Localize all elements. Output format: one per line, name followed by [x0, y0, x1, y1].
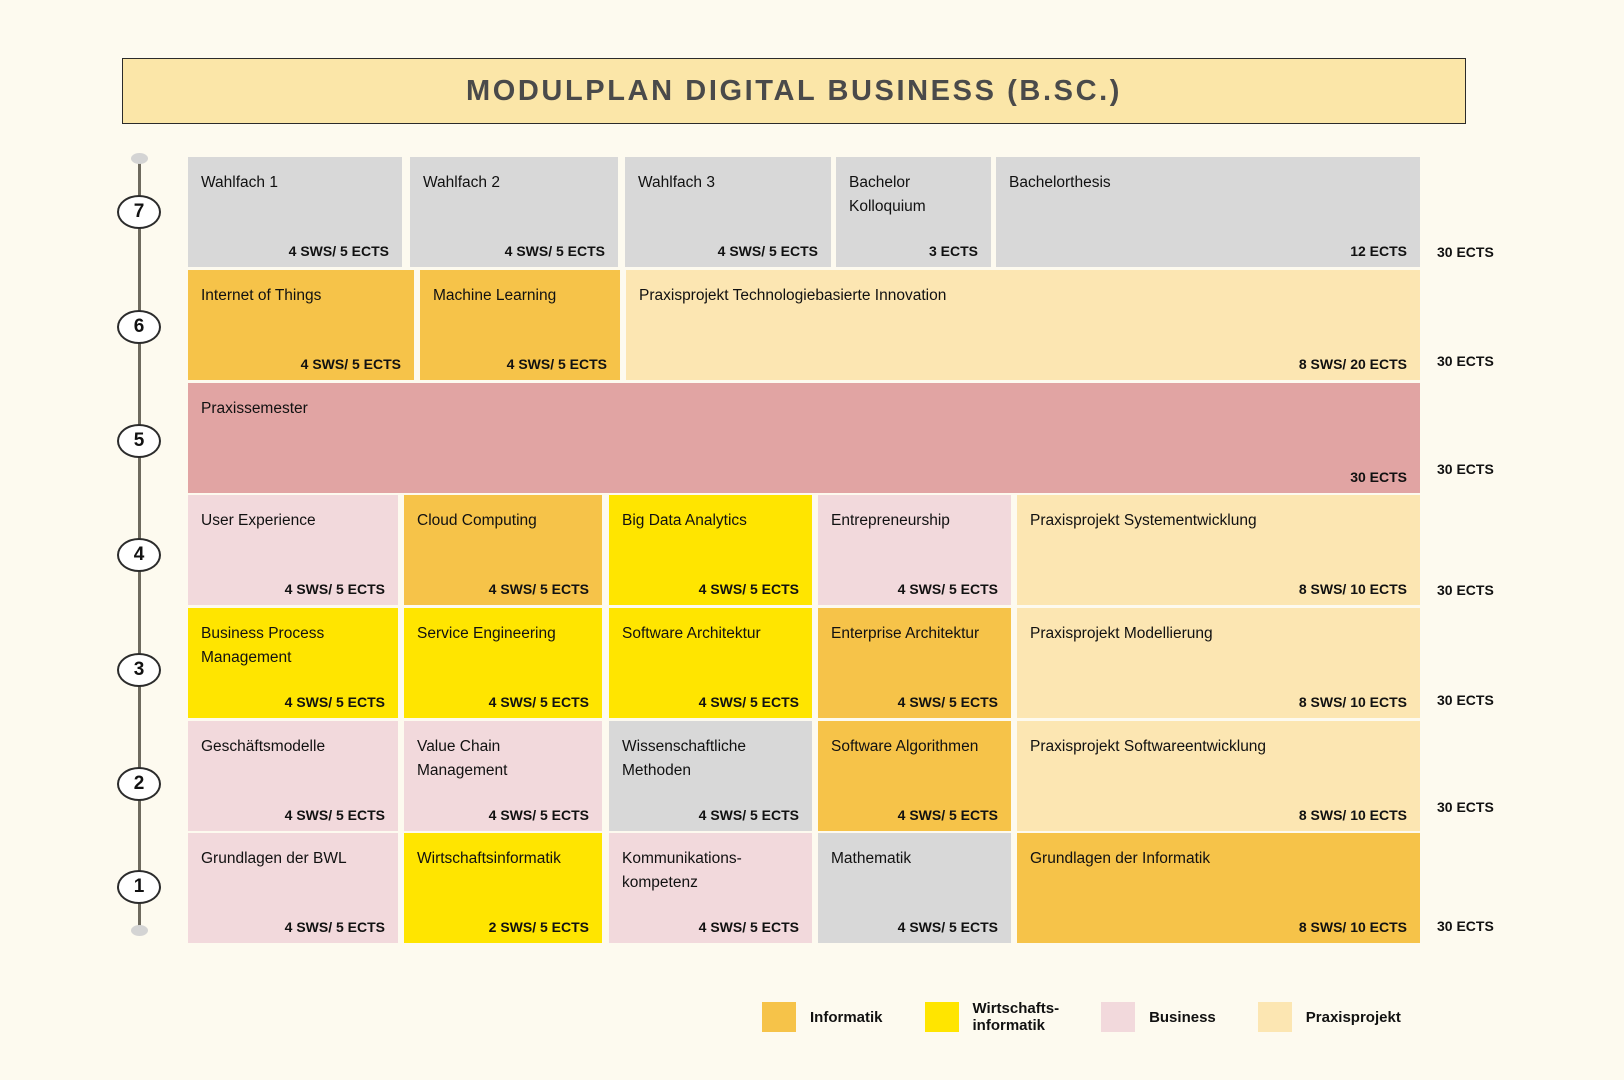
legend-item[interactable]: Business	[1101, 1002, 1216, 1032]
module-box[interactable]: Praxisprojekt Softwareentwicklung8 SWS/ …	[1017, 721, 1420, 831]
module-credits: 4 SWS/ 5 ECTS	[285, 919, 385, 935]
semester-row-4: User Experience4 SWS/ 5 ECTSCloud Comput…	[188, 495, 1420, 605]
legend-color-swatch	[1258, 1002, 1292, 1032]
module-box[interactable]: Geschäftsmodelle4 SWS/ 5 ECTS	[188, 721, 398, 831]
module-box[interactable]: Wahlfach 14 SWS/ 5 ECTS	[188, 157, 402, 267]
module-credits: 4 SWS/ 5 ECTS	[718, 243, 818, 259]
semester-badge-5[interactable]: 5	[117, 424, 161, 458]
module-box[interactable]: Bachelorthesis12 ECTS	[996, 157, 1420, 267]
semester-total-ects: 30 ECTS	[1437, 353, 1494, 369]
module-title: Cloud Computing	[417, 509, 589, 533]
module-title: Software Algorithmen	[831, 735, 998, 759]
module-credits: 4 SWS/ 5 ECTS	[699, 807, 799, 823]
page-title-banner: MODULPLAN DIGITAL BUSINESS (B.SC.)	[122, 58, 1466, 124]
module-credits: 2 SWS/ 5 ECTS	[489, 919, 589, 935]
module-box[interactable]: Service Engineering4 SWS/ 5 ECTS	[404, 608, 602, 718]
module-credits: 4 SWS/ 5 ECTS	[285, 807, 385, 823]
semester-row-inner: Geschäftsmodelle4 SWS/ 5 ECTSValue Chain…	[188, 721, 1420, 831]
module-box[interactable]: Bachelor Kolloquium3 ECTS	[836, 157, 991, 267]
module-title: Business Process Management	[201, 622, 385, 670]
module-credits: 4 SWS/ 5 ECTS	[898, 694, 998, 710]
module-box[interactable]: Software Architektur4 SWS/ 5 ECTS	[609, 608, 812, 718]
module-title: Wahlfach 3	[638, 171, 818, 195]
module-title: Bachelor Kolloquium	[849, 171, 978, 219]
timeline-cap-top-icon	[131, 153, 148, 164]
module-credits: 4 SWS/ 5 ECTS	[489, 694, 589, 710]
module-credits: 4 SWS/ 5 ECTS	[898, 919, 998, 935]
semester-row-inner: Grundlagen der BWL4 SWS/ 5 ECTSWirtschaf…	[188, 833, 1420, 943]
semester-badge-4[interactable]: 4	[117, 538, 161, 572]
legend-label: Praxisprojekt	[1306, 1009, 1401, 1026]
module-box[interactable]: Wirtschaftsinformatik2 SWS/ 5 ECTS	[404, 833, 602, 943]
module-title: Enterprise Architektur	[831, 622, 998, 646]
module-title: Grundlagen der BWL	[201, 847, 385, 871]
module-credits: 12 ECTS	[1350, 243, 1407, 259]
module-box[interactable]: Cloud Computing4 SWS/ 5 ECTS	[404, 495, 602, 605]
module-box[interactable]: Big Data Analytics4 SWS/ 5 ECTS	[609, 495, 812, 605]
legend-item[interactable]: Informatik	[762, 1002, 883, 1032]
semester-row-inner: User Experience4 SWS/ 5 ECTSCloud Comput…	[188, 495, 1420, 605]
legend-item[interactable]: Wirtschafts- informatik	[925, 1000, 1060, 1035]
semester-row-inner: Praxissemester30 ECTS	[188, 383, 1420, 493]
module-box[interactable]: Value Chain Management4 SWS/ 5 ECTS	[404, 721, 602, 831]
module-credits: 4 SWS/ 5 ECTS	[289, 243, 389, 259]
module-credits: 4 SWS/ 5 ECTS	[489, 581, 589, 597]
semester-total-ects: 30 ECTS	[1437, 582, 1494, 598]
legend-label: Business	[1149, 1009, 1216, 1026]
module-title: User Experience	[201, 509, 385, 533]
module-box[interactable]: Business Process Management4 SWS/ 5 ECTS	[188, 608, 398, 718]
module-title: Wissenschaftliche Methoden	[622, 735, 799, 783]
module-title: Service Engineering	[417, 622, 589, 646]
legend-label: Informatik	[810, 1009, 883, 1026]
page-title: MODULPLAN DIGITAL BUSINESS (B.SC.)	[466, 75, 1122, 108]
module-title: Big Data Analytics	[622, 509, 799, 533]
semester-row-7: Wahlfach 14 SWS/ 5 ECTSWahlfach 24 SWS/ …	[188, 157, 1420, 267]
module-credits: 4 SWS/ 5 ECTS	[301, 356, 401, 372]
module-box[interactable]: User Experience4 SWS/ 5 ECTS	[188, 495, 398, 605]
semester-badge-6[interactable]: 6	[117, 310, 161, 344]
module-credits: 3 ECTS	[929, 243, 978, 259]
module-credits: 4 SWS/ 5 ECTS	[898, 581, 998, 597]
module-box[interactable]: Wahlfach 34 SWS/ 5 ECTS	[625, 157, 831, 267]
module-credits: 8 SWS/ 10 ECTS	[1299, 919, 1407, 935]
module-box[interactable]: Grundlagen der BWL4 SWS/ 5 ECTS	[188, 833, 398, 943]
category-legend: InformatikWirtschafts- informatikBusines…	[762, 1000, 1443, 1035]
module-box[interactable]: Software Algorithmen4 SWS/ 5 ECTS	[818, 721, 1011, 831]
module-title: Geschäftsmodelle	[201, 735, 385, 759]
semester-row-5: Praxissemester30 ECTS	[188, 383, 1420, 493]
module-title: Internet of Things	[201, 284, 401, 308]
module-title: Praxisprojekt Technologiebasierte Innova…	[639, 284, 1407, 308]
semester-row-6: Internet of Things4 SWS/ 5 ECTSMachine L…	[188, 270, 1420, 380]
module-box[interactable]: Wahlfach 24 SWS/ 5 ECTS	[410, 157, 618, 267]
module-box[interactable]: Internet of Things4 SWS/ 5 ECTS	[188, 270, 414, 380]
module-credits: 4 SWS/ 5 ECTS	[898, 807, 998, 823]
module-credits: 8 SWS/ 10 ECTS	[1299, 694, 1407, 710]
module-box[interactable]: Praxisprojekt Systementwicklung8 SWS/ 10…	[1017, 495, 1420, 605]
legend-label: Wirtschafts- informatik	[973, 1000, 1060, 1035]
module-credits: 4 SWS/ 5 ECTS	[699, 919, 799, 935]
module-title: Mathematik	[831, 847, 998, 871]
legend-color-swatch	[1101, 1002, 1135, 1032]
semester-badge-3[interactable]: 3	[117, 653, 161, 687]
timeline-cap-bottom-icon	[131, 925, 148, 936]
module-credits: 30 ECTS	[1350, 469, 1407, 485]
semester-row-inner: Internet of Things4 SWS/ 5 ECTSMachine L…	[188, 270, 1420, 380]
module-box[interactable]: Praxisprojekt Technologiebasierte Innova…	[626, 270, 1420, 380]
module-credits: 4 SWS/ 5 ECTS	[285, 581, 385, 597]
module-credits: 8 SWS/ 10 ECTS	[1299, 807, 1407, 823]
module-box[interactable]: Grundlagen der Informatik8 SWS/ 10 ECTS	[1017, 833, 1420, 943]
module-credits: 4 SWS/ 5 ECTS	[489, 807, 589, 823]
semester-total-ects: 30 ECTS	[1437, 461, 1494, 477]
semester-row-inner: Business Process Management4 SWS/ 5 ECTS…	[188, 608, 1420, 718]
module-title: Machine Learning	[433, 284, 607, 308]
module-title: Wirtschaftsinformatik	[417, 847, 589, 871]
module-title: Kommunikations- kompetenz	[622, 847, 799, 895]
module-title: Wahlfach 1	[201, 171, 389, 195]
semester-total-ects: 30 ECTS	[1437, 799, 1494, 815]
module-box[interactable]: Entrepreneurship4 SWS/ 5 ECTS	[818, 495, 1011, 605]
semester-row-2: Geschäftsmodelle4 SWS/ 5 ECTSValue Chain…	[188, 721, 1420, 831]
semester-row-3: Business Process Management4 SWS/ 5 ECTS…	[188, 608, 1420, 718]
modulplan-page: MODULPLAN DIGITAL BUSINESS (B.SC.) 7Wahl…	[0, 0, 1624, 1080]
semester-total-ects: 30 ECTS	[1437, 918, 1494, 934]
module-credits: 4 SWS/ 5 ECTS	[699, 581, 799, 597]
module-credits: 8 SWS/ 20 ECTS	[1299, 356, 1407, 372]
legend-item[interactable]: Praxisprojekt	[1258, 1002, 1401, 1032]
legend-color-swatch	[762, 1002, 796, 1032]
module-title: Software Architektur	[622, 622, 799, 646]
semester-total-ects: 30 ECTS	[1437, 692, 1494, 708]
module-title: Praxisprojekt Modellierung	[1030, 622, 1407, 646]
module-credits: 4 SWS/ 5 ECTS	[285, 694, 385, 710]
module-title: Praxisprojekt Systementwicklung	[1030, 509, 1407, 533]
module-box[interactable]: Mathematik4 SWS/ 5 ECTS	[818, 833, 1011, 943]
semester-total-ects: 30 ECTS	[1437, 244, 1494, 260]
module-box[interactable]: Machine Learning4 SWS/ 5 ECTS	[420, 270, 620, 380]
module-title: Wahlfach 2	[423, 171, 605, 195]
module-title: Praxisprojekt Softwareentwicklung	[1030, 735, 1407, 759]
module-credits: 4 SWS/ 5 ECTS	[505, 243, 605, 259]
module-title: Entrepreneurship	[831, 509, 998, 533]
module-title: Praxissemester	[201, 397, 1407, 421]
module-box[interactable]: Kommunikations- kompetenz4 SWS/ 5 ECTS	[609, 833, 812, 943]
module-box[interactable]: Praxissemester30 ECTS	[188, 383, 1420, 493]
semester-badge-7[interactable]: 7	[117, 195, 161, 229]
semester-row-1: Grundlagen der BWL4 SWS/ 5 ECTSWirtschaf…	[188, 833, 1420, 943]
module-box[interactable]: Praxisprojekt Modellierung8 SWS/ 10 ECTS	[1017, 608, 1420, 718]
module-title: Value Chain Management	[417, 735, 589, 783]
semester-row-inner: Wahlfach 14 SWS/ 5 ECTSWahlfach 24 SWS/ …	[188, 157, 1420, 267]
module-credits: 8 SWS/ 10 ECTS	[1299, 581, 1407, 597]
semester-badge-1[interactable]: 1	[117, 870, 161, 904]
module-box[interactable]: Enterprise Architektur4 SWS/ 5 ECTS	[818, 608, 1011, 718]
module-credits: 4 SWS/ 5 ECTS	[699, 694, 799, 710]
module-title: Grundlagen der Informatik	[1030, 847, 1407, 871]
semester-badge-2[interactable]: 2	[117, 767, 161, 801]
legend-color-swatch	[925, 1002, 959, 1032]
module-credits: 4 SWS/ 5 ECTS	[507, 356, 607, 372]
module-box[interactable]: Wissenschaftliche Methoden4 SWS/ 5 ECTS	[609, 721, 812, 831]
module-title: Bachelorthesis	[1009, 171, 1407, 195]
